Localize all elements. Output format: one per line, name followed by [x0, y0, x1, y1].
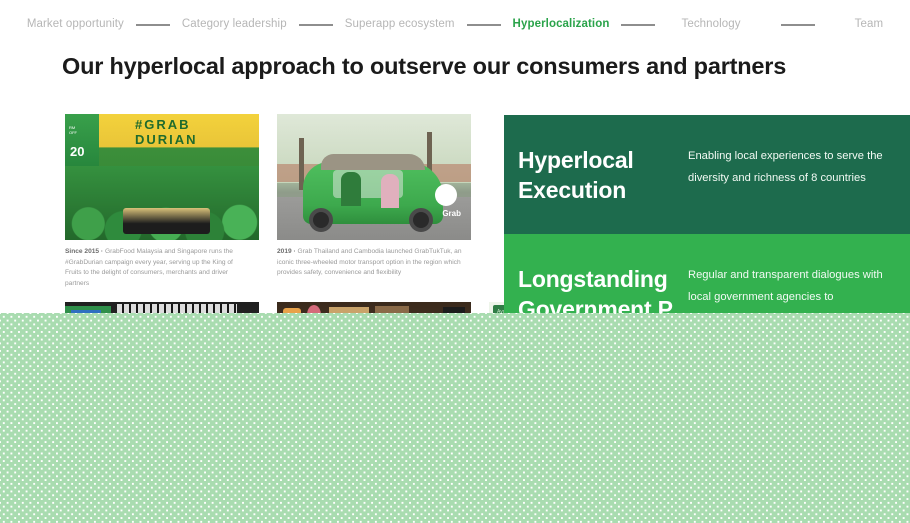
driver-figure	[341, 172, 361, 206]
nav-separator-dash	[136, 24, 170, 26]
wheel-shape	[409, 208, 433, 232]
card-caption: Since 2015 · GrabFood Malaysia and Singa…	[65, 247, 251, 290]
card-grab-tuktuk[interactable]: Grab 2019 · Grab Thailand and Cambodia l…	[277, 114, 471, 290]
wheel-shape	[309, 208, 333, 232]
grab-durian-hashtag: #GRABDURIAN	[135, 118, 198, 148]
nav-item-superapp-ecosystem[interactable]: Superapp ecosystem	[345, 17, 455, 33]
nav-item-hyperlocalization[interactable]: Hyperlocalization	[513, 17, 610, 33]
grab-wordmark: Grab	[442, 209, 461, 218]
nav-item-category-leadership[interactable]: Category leadership	[182, 17, 287, 33]
nav-item-technology[interactable]: Technology	[681, 17, 740, 33]
panel-hyperlocal-execution[interactable]: Hyperlocal Execution Enabling local expe…	[504, 115, 910, 234]
caption-lead: 2019 ·	[277, 248, 296, 255]
grab-tuktuk-photo: Grab	[277, 114, 471, 240]
nav-item-team[interactable]: Team	[855, 17, 884, 33]
card-grab-durian[interactable]: RMOFF 20 #GRABDURIAN Since 2015 · GrabFo…	[65, 114, 259, 290]
dotted-green-overlay	[0, 313, 910, 523]
table-shape	[123, 208, 210, 234]
slide-stage: Market opportunityCategory leadershipSup…	[0, 0, 910, 523]
promo-banner-small-text: RMOFF	[69, 126, 77, 136]
grab-durian-event-photo: RMOFF 20 #GRABDURIAN	[65, 114, 259, 240]
tuktuk-roof	[321, 154, 425, 170]
nav-separator-dash	[621, 24, 655, 26]
panel-body: Enabling local experiences to serve the …	[688, 145, 886, 190]
panel-title: Hyperlocal Execution	[518, 145, 688, 206]
nav-separator-dash	[299, 24, 333, 26]
caption-lead: Since 2015 ·	[65, 248, 103, 255]
card-row-1: RMOFF 20 #GRABDURIAN Since 2015 · GrabFo…	[65, 114, 485, 290]
passenger-figure	[381, 174, 399, 208]
card-caption: 2019 · Grab Thailand and Cambodia launch…	[277, 247, 463, 279]
nav-item-market-opportunity[interactable]: Market opportunity	[27, 17, 124, 33]
page-title: Our hyperlocal approach to outserve our …	[62, 52, 786, 80]
nav-separator-dash	[781, 24, 815, 26]
promo-banner-amount: 20	[70, 144, 84, 159]
nav-separator-dash	[467, 24, 501, 26]
grab-logo-icon	[435, 184, 457, 206]
caption-text: Grab Thailand and Cambodia launched Grab…	[277, 248, 462, 276]
panel-body: Regular and transparent dialogues with l…	[688, 264, 886, 309]
section-navigation: Market opportunityCategory leadershipSup…	[0, 0, 910, 50]
